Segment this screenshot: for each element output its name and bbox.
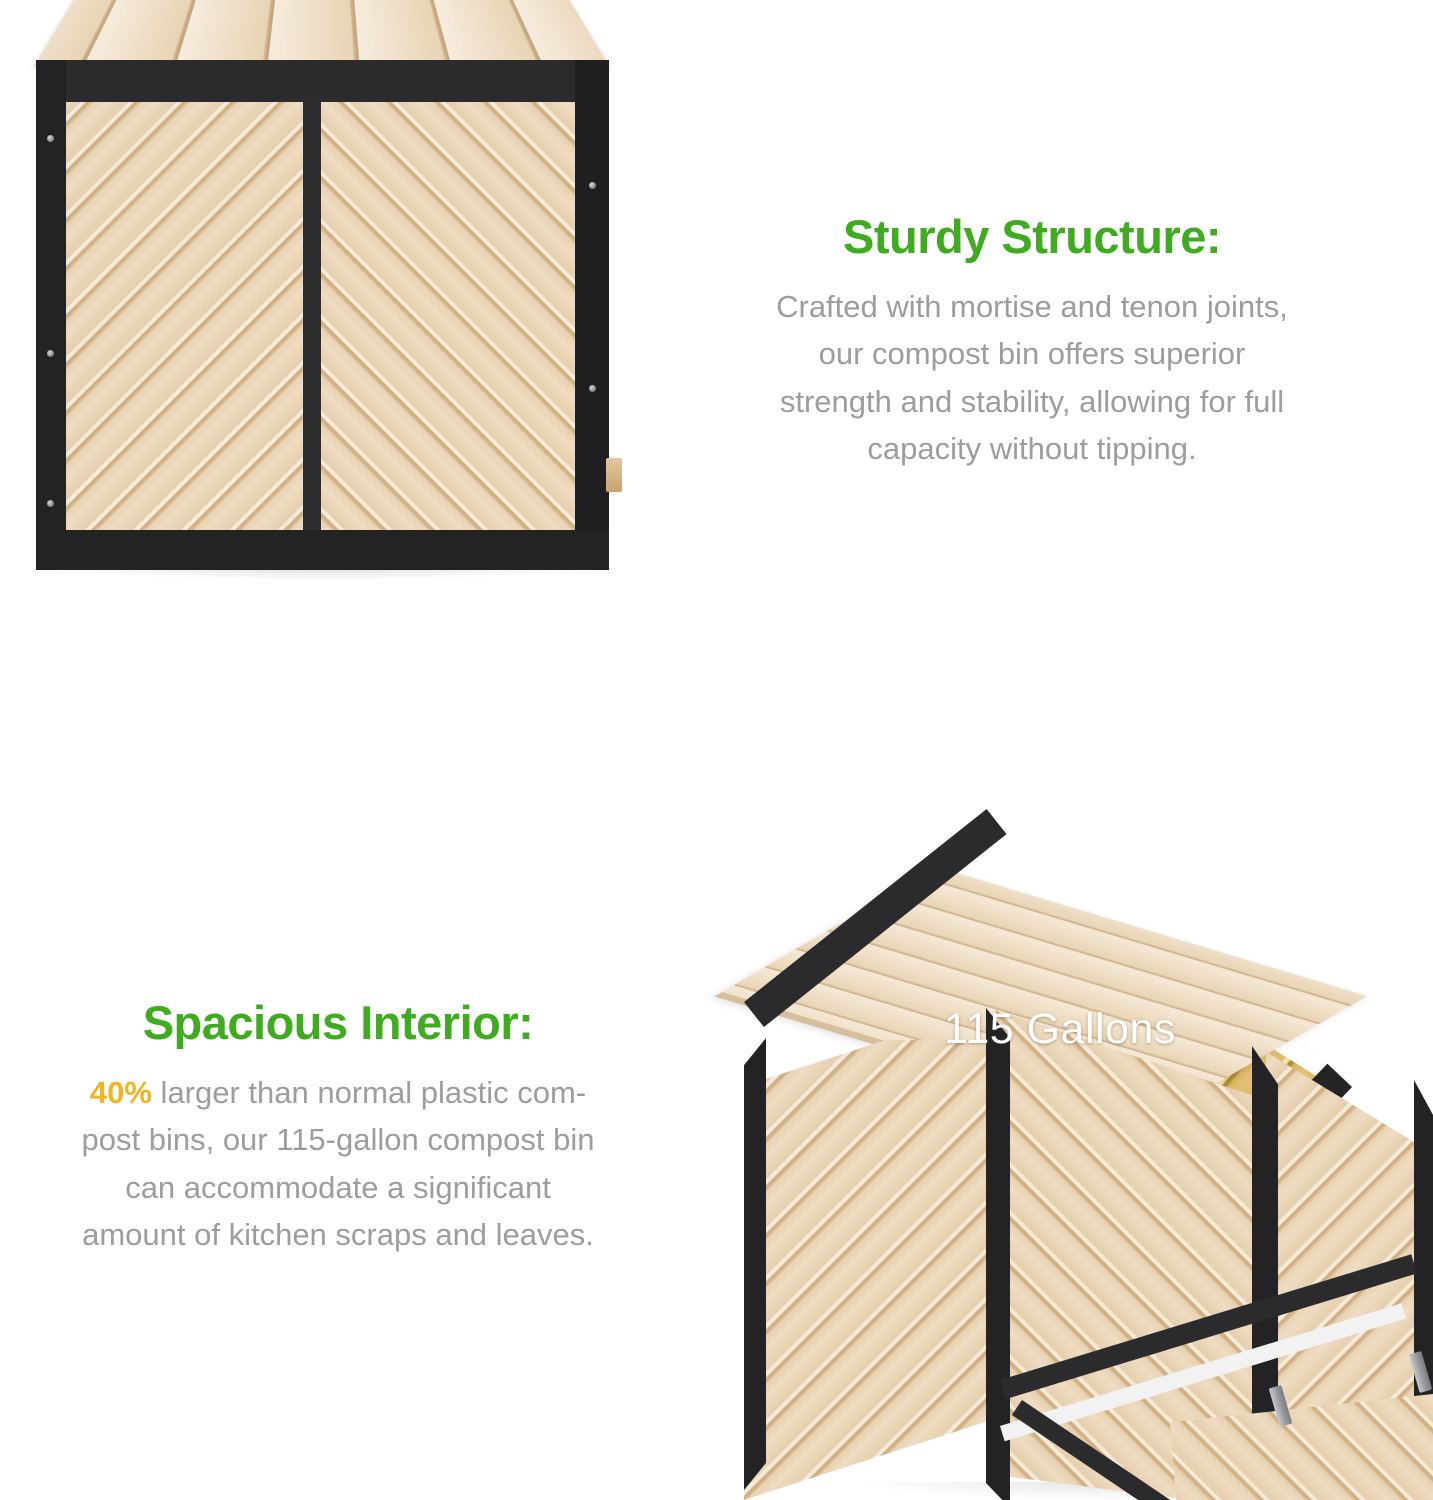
bin-corner-post-left: [744, 1038, 766, 1490]
feature-body-line: amount of kitchen scraps and leaves.: [11, 1211, 666, 1258]
feature-block-spacious-interior: Spacious Interior: 40% larger than norma…: [8, 998, 668, 1258]
mortise-tenon-peg: [606, 458, 622, 492]
bin-center-post: [303, 96, 321, 532]
stat-highlight-40-percent: 40%: [90, 1075, 152, 1110]
feature-body-spacious-interior: 40% larger than normal plastic com- post…: [11, 1069, 666, 1257]
bin-lid-slats: [34, 0, 609, 66]
feature-body-line: can accommodate a significant: [11, 1164, 666, 1211]
bin-corner-post-left: [36, 60, 66, 570]
screw-icon: [47, 350, 54, 357]
feature-block-sturdy-structure: Sturdy Structure: Crafted with mortise a…: [676, 212, 1388, 472]
feature-body-line: larger than normal plastic com-: [152, 1075, 586, 1110]
bin-corner-post-right: [575, 60, 609, 570]
feature-body-line: our compost bin offers superior: [687, 330, 1377, 377]
screw-icon: [47, 135, 54, 142]
feature-body-line: strength and stability, allowing for ful…: [687, 378, 1377, 425]
bin-front-panel-right: [319, 102, 575, 530]
screw-icon: [47, 500, 54, 507]
feature-body-line: Crafted with mortise and tenon joints,: [687, 283, 1377, 330]
feature-body-line-first: 40% larger than normal plastic com-: [11, 1069, 666, 1116]
screw-icon: [589, 385, 596, 392]
feature-body-line: capacity without tipping.: [687, 425, 1377, 472]
feature-heading-sturdy-structure: Sturdy Structure:: [676, 212, 1388, 261]
feature-body-line: post bins, our 115-gallon compost bin: [11, 1116, 666, 1163]
product-feature-page: Sturdy Structure: Crafted with mortise a…: [0, 0, 1433, 1500]
compost-bin-closed-lid-photo: [0, 0, 640, 730]
screw-icon: [589, 182, 596, 189]
bin-bottom-frame-rail: [36, 530, 609, 570]
compost-bin-open-lid-photo: 115 Gallons: [700, 740, 1433, 1500]
bin-body: [36, 60, 609, 570]
bin-side-panel-left: [744, 1040, 1000, 1500]
bin-top-frame-rail: [36, 60, 609, 102]
feature-body-sturdy-structure: Crafted with mortise and tenon joints, o…: [687, 283, 1377, 471]
bin-front-panel-left: [66, 102, 303, 530]
feature-heading-spacious-interior: Spacious Interior:: [8, 998, 668, 1047]
